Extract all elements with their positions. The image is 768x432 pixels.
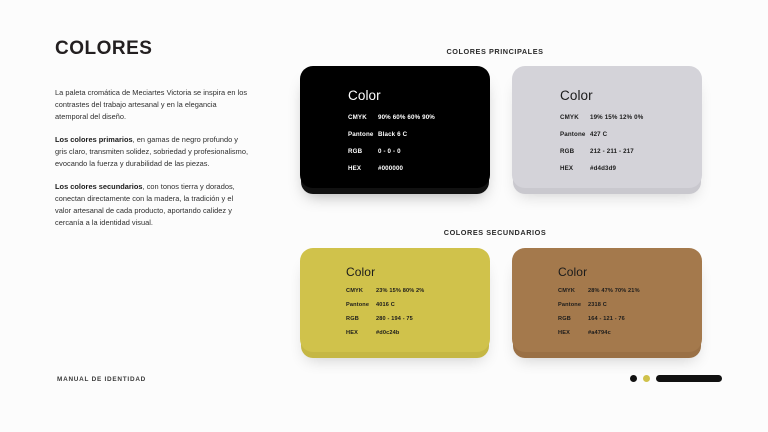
color-card-yellow-title: Color [346,265,490,279]
cmyk-label: CMYK [558,288,588,294]
intro-text: La paleta cromática de Meciartes Victori… [55,87,250,229]
color-card-yellow-pantone-row: Pantone 4016 C [346,302,490,308]
color-card-yellow-rgb-row: RGB 280 - 194 - 75 [346,316,490,322]
pantone-label: Pantone [560,131,590,138]
slide-canvas: COLORES La paleta cromática de Meciartes… [0,0,768,432]
section-heading-primary: COLORES PRINCIPALES [285,47,705,56]
pagination-dot-2[interactable] [643,375,650,382]
color-card-black-title: Color [348,88,490,103]
intro-column: COLORES La paleta cromática de Meciartes… [55,38,250,229]
color-card-brown-rgb-row: RGB 164 - 121 - 76 [558,316,702,322]
pantone-label: Pantone [348,131,378,138]
color-card-brown-title: Color [558,265,702,279]
color-card-black-pantone-row: Pantone Black 6 C [348,131,490,138]
color-card-gray-content: Color CMYK 19% 15% 12% 0% Pantone 427 C … [512,88,702,172]
color-card-brown-pantone-row: Pantone 2318 C [558,302,702,308]
color-card-yellow-cmyk-value: 23% 15% 80% 2% [376,288,424,294]
color-card-yellow-hex-row: HEX #d0c24b [346,330,490,336]
color-card-black-content: Color CMYK 90% 60% 60% 90% Pantone Black… [300,88,490,172]
color-card-gray-pantone-row: Pantone 427 C [560,131,702,138]
color-card-gray-title: Color [560,88,702,103]
hex-label: HEX [558,330,588,336]
pagination-progress-bar[interactable] [656,375,722,382]
color-card-gray-rgb-value: 212 - 211 - 217 [590,148,634,155]
intro-paragraph-3-lead: Los colores secundarios [55,182,143,191]
cmyk-label: CMYK [346,288,376,294]
cmyk-label: CMYK [560,114,590,121]
color-card-black: Color CMYK 90% 60% 60% 90% Pantone Black… [300,66,490,188]
color-card-black-rgb-row: RGB 0 - 0 - 0 [348,148,490,155]
color-card-gray-hex-row: HEX #d4d3d9 [560,165,702,172]
color-card-gray-rgb-row: RGB 212 - 211 - 217 [560,148,702,155]
rgb-label: RGB [348,148,378,155]
color-card-brown-hex-value: #a4794c [588,330,611,336]
pantone-label: Pantone [558,302,588,308]
rgb-label: RGB [346,316,376,322]
color-card-yellow-hex-value: #d0c24b [376,330,399,336]
intro-paragraph-3: Los colores secundarios, con tonos tierr… [55,181,250,229]
color-card-black-rgb-value: 0 - 0 - 0 [378,148,401,155]
color-card-brown-pantone-value: 2318 C [588,302,607,308]
color-card-gray-cmyk-row: CMYK 19% 15% 12% 0% [560,114,702,121]
footer-label: MANUAL DE IDENTIDAD [57,376,146,383]
color-card-yellow-content: Color CMYK 23% 15% 80% 2% Pantone 4016 C… [300,265,490,336]
color-card-gray-cmyk-value: 19% 15% 12% 0% [590,114,643,121]
rgb-label: RGB [560,148,590,155]
pagination-indicator[interactable] [630,375,722,382]
intro-paragraph-2-lead: Los colores primarios [55,135,133,144]
intro-paragraph-2: Los colores primarios, en gamas de negro… [55,134,250,170]
color-card-brown: Color CMYK 28% 47% 70% 21% Pantone 2318 … [512,248,702,352]
color-card-black-hex-row: HEX #000000 [348,165,490,172]
rgb-label: RGB [558,316,588,322]
color-card-brown-hex-row: HEX #a4794c [558,330,702,336]
hex-label: HEX [560,165,590,172]
color-card-brown-cmyk-value: 28% 47% 70% 21% [588,288,640,294]
color-card-gray: Color CMYK 19% 15% 12% 0% Pantone 427 C … [512,66,702,188]
color-card-black-pantone-value: Black 6 C [378,131,407,138]
pantone-label: Pantone [346,302,376,308]
color-card-yellow-pantone-value: 4016 C [376,302,395,308]
hex-label: HEX [346,330,376,336]
color-card-gray-hex-value: #d4d3d9 [590,165,616,172]
cmyk-label: CMYK [348,114,378,121]
color-card-black-cmyk-value: 90% 60% 60% 90% [378,114,435,121]
color-card-gray-pantone-value: 427 C [590,131,607,138]
color-card-brown-rgb-value: 164 - 121 - 76 [588,316,625,322]
color-card-black-cmyk-row: CMYK 90% 60% 60% 90% [348,114,490,121]
color-card-brown-cmyk-row: CMYK 28% 47% 70% 21% [558,288,702,294]
color-card-yellow-rgb-value: 280 - 194 - 75 [376,316,413,322]
color-card-black-hex-value: #000000 [378,165,403,172]
color-card-yellow: Color CMYK 23% 15% 80% 2% Pantone 4016 C… [300,248,490,352]
page-title: COLORES [55,38,250,60]
section-heading-secondary: COLORES SECUNDARIOS [285,228,705,237]
color-card-yellow-cmyk-row: CMYK 23% 15% 80% 2% [346,288,490,294]
hex-label: HEX [348,165,378,172]
intro-paragraph-1: La paleta cromática de Meciartes Victori… [55,87,250,123]
pagination-dot-1[interactable] [630,375,637,382]
color-card-brown-content: Color CMYK 28% 47% 70% 21% Pantone 2318 … [512,265,702,336]
